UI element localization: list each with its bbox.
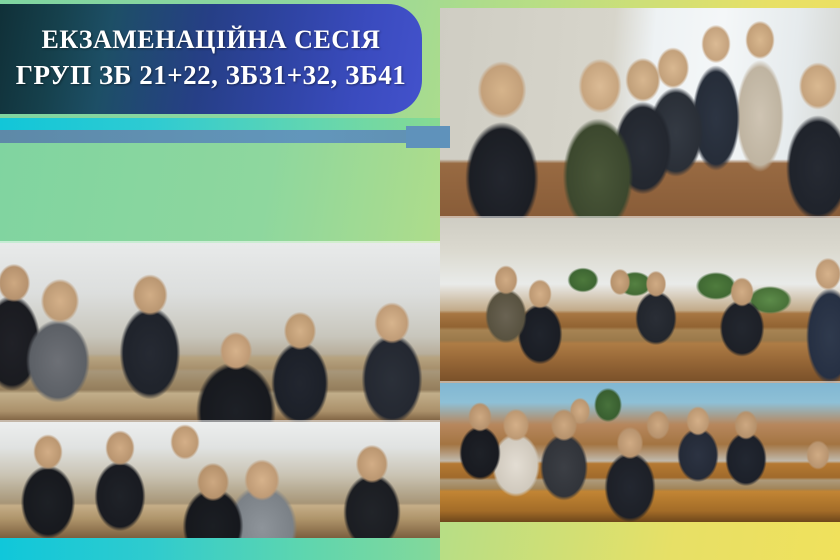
collage-canvas: ЕКЗАМЕНАЦІЙНА СЕСІЯ ГРУП ЗБ 21+22, ЗБ31+…: [0, 0, 840, 560]
photo-blue-wall-classroom: [440, 383, 840, 522]
photo-group-photo: [440, 8, 840, 218]
title-banner: ЕКЗАМЕНАЦІЙНА СЕСІЯ ГРУП ЗБ 21+22, ЗБ31+…: [0, 4, 422, 114]
seam-right-lower: [440, 381, 840, 383]
cyan-accent-bar-top: [0, 118, 440, 130]
blue-accent-square: [406, 126, 450, 148]
photo-lecture-hall: [0, 243, 440, 422]
seam-left-upper: [0, 241, 440, 243]
seam-right-upper: [440, 216, 840, 218]
cyan-accent-bar-bottom: [0, 538, 440, 560]
photo-classroom-plants: [440, 218, 840, 383]
seam-left-lower: [0, 420, 440, 422]
steel-accent-bar: [0, 130, 440, 143]
title-line-1: ЕКЗАМЕНАЦІЙНА СЕСІЯ: [42, 23, 381, 57]
photo-students-writing: [0, 422, 440, 538]
title-line-2: ГРУП ЗБ 21+22, ЗБ31+32, ЗБ41: [16, 57, 406, 93]
